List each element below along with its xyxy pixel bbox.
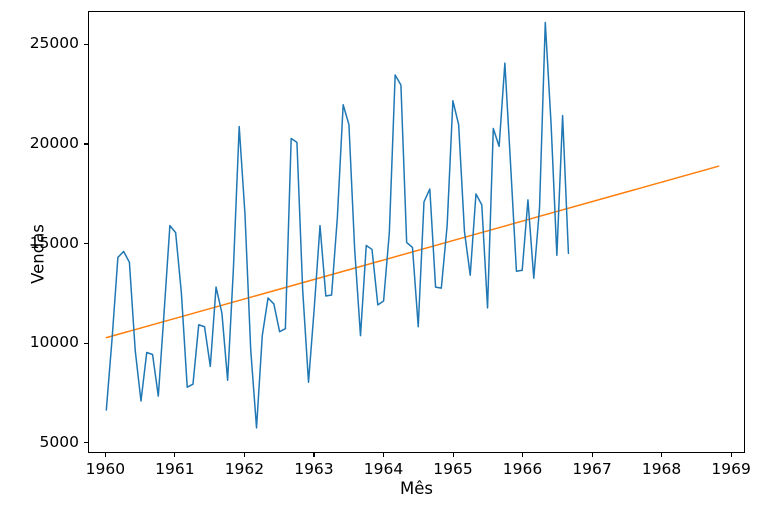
x-tick-mark [174,453,175,457]
x-tick-mark [383,453,384,457]
plot-svg [89,12,744,452]
x-tick-mark [661,453,662,457]
plot-area [88,11,745,453]
x-tick-label: 1960 [65,462,145,478]
x-tick-label: 1962 [204,462,284,478]
x-tick-mark [244,453,245,457]
y-tick-label: 5000 [40,435,79,451]
x-axis-label: Mês [88,479,745,498]
x-tick-label: 1969 [691,462,763,478]
y-tick-label: 10000 [30,335,79,351]
x-tick-label: 1965 [413,462,493,478]
x-tick-mark [453,453,454,457]
y-axis-label: Vendas [28,224,47,284]
x-tick-mark [105,453,106,457]
x-tick-label: 1968 [622,462,702,478]
x-tick-label: 1964 [343,462,423,478]
x-tick-label: 1967 [552,462,632,478]
sales-series-line [106,23,568,428]
matplotlib-figure: Vendas 500010000150002000025000 19601961… [0,0,763,508]
x-tick-label: 1961 [135,462,215,478]
x-tick-label: 1966 [483,462,563,478]
y-tick-label: 20000 [30,136,79,152]
x-tick-mark [592,453,593,457]
y-tick-label: 25000 [30,36,79,52]
x-tick-mark [522,453,523,457]
x-tick-mark [313,453,314,457]
x-tick-mark [731,453,732,457]
x-tick-label: 1963 [274,462,354,478]
